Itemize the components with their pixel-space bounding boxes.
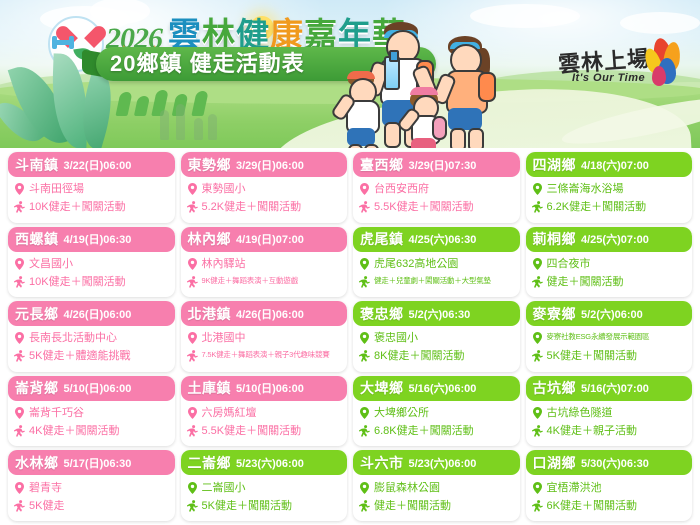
location-pin-icon: [187, 407, 198, 423]
event-card-body: 宜梧滯洪池6K健走＋闖關活動: [526, 475, 693, 521]
event-card-header: 口湖鄉5/30(六)06:30: [526, 450, 693, 475]
walking-person-icon: [359, 350, 370, 366]
flame-torch-icon: [644, 38, 688, 88]
event-datetime: 5/2(六)06:30: [409, 306, 471, 322]
activity-row: 5K健走＋闖關活動: [532, 350, 686, 366]
location-pin-icon: [14, 482, 25, 498]
venue-name: 東勢國小: [202, 183, 246, 196]
event-card-body: 六房媽紅壇5.5K健走＋闖關活動: [181, 401, 348, 447]
township-name: 虎尾鎮: [360, 229, 404, 249]
event-card[interactable]: 土庫鎮5/10(日)06:00六房媽紅壇5.5K健走＋闖關活動: [181, 376, 348, 447]
logo-english-tagline: It's Our Time: [572, 72, 645, 84]
event-card[interactable]: 斗六市5/23(六)06:00膨鼠森林公園健走＋闖關活動: [353, 450, 520, 521]
event-datetime: 5/16(六)06:00: [409, 380, 477, 396]
cloud-decoration: [620, 12, 700, 34]
event-card[interactable]: 東勢鄉3/29(日)06:00東勢國小5.2K健走＋闖關活動: [181, 152, 348, 223]
venue-row: 碧青寺: [14, 482, 168, 498]
event-datetime: 3/29(日)06:00: [236, 157, 304, 173]
location-pin-icon: [187, 183, 198, 199]
walking-person-icon: [532, 201, 543, 217]
activity-row: 5K健走: [14, 500, 168, 516]
venue-name: 碧青寺: [29, 482, 62, 495]
event-card-header: 古坑鄉5/16(六)07:00: [526, 376, 693, 401]
venue-row: 北港國中: [187, 332, 341, 348]
activity-row: 5.5K健走＋闖關活動: [359, 201, 513, 217]
event-card[interactable]: 虎尾鎮4/25(六)06:30虎尾632高地公園健走＋兒童劇＋闖關活動＋大型氣墊: [353, 227, 520, 298]
event-card-header: 水林鄉5/17(日)06:30: [8, 450, 175, 475]
event-card-header: 莿桐鄉4/25(六)07:00: [526, 227, 693, 252]
event-datetime: 4/26(日)06:00: [64, 306, 132, 322]
location-pin-icon: [14, 258, 25, 270]
family-illustration: [330, 14, 545, 148]
event-datetime: 5/30(六)06:30: [581, 455, 649, 471]
venue-row: 宜梧滯洪池: [532, 482, 686, 498]
township-name: 林內鄉: [188, 229, 232, 249]
venue-row: 長南長北活動中心: [14, 332, 168, 348]
girl-figure: [406, 88, 452, 148]
township-name: 口湖鄉: [533, 453, 577, 473]
event-card-header: 林內鄉4/19(日)07:00: [181, 227, 348, 252]
venue-name: 三條崙海水浴場: [547, 183, 624, 196]
event-datetime: 5/17(日)06:30: [64, 455, 132, 471]
location-pin-icon: [187, 258, 198, 270]
venue-name: 膨鼠森林公園: [374, 482, 440, 495]
activity-row: 7.5K健走＋舞蹈表演＋親子3代趣味競賽: [187, 350, 341, 366]
location-pin-icon: [187, 482, 198, 494]
venue-name: 六房媽紅壇: [202, 407, 257, 420]
activity-row: 健走＋兒童劇＋闖關活動＋大型氣墊: [359, 276, 513, 292]
event-card-header: 臺西鄉3/29(日)07:30: [353, 152, 520, 177]
walker-silhouettes: [160, 96, 240, 140]
activity-row: 健走＋闖關活動: [359, 500, 513, 516]
venue-row: 大埤鄉公所: [359, 407, 513, 423]
township-name: 大埤鄉: [360, 378, 404, 398]
location-pin-icon: [14, 258, 25, 274]
walking-person-icon: [359, 425, 370, 437]
event-datetime: 5/16(六)07:00: [581, 380, 649, 396]
activity-row: 健走＋闖關活動: [532, 276, 686, 292]
venue-row: 林內驛站: [187, 258, 341, 274]
event-datetime: 4/19(日)07:00: [236, 231, 304, 247]
venue-name: 崙背千巧谷: [29, 407, 84, 420]
event-card[interactable]: 褒忠鄉5/2(六)06:30褒忠國小8K健走＋闖關活動: [353, 301, 520, 372]
walking-person-icon: [359, 350, 370, 362]
activity-description: 9K健走＋舞蹈表演＋互動遊戲: [202, 276, 298, 286]
event-card-header: 元長鄉4/26(日)06:00: [8, 301, 175, 326]
event-card-body: 膨鼠森林公園健走＋闖關活動: [353, 475, 520, 521]
event-card[interactable]: 古坑鄉5/16(六)07:00古坑綠色隧道4K健走＋親子活動: [526, 376, 693, 447]
location-pin-icon: [359, 482, 370, 494]
venue-name: 四合夜市: [547, 258, 591, 271]
location-pin-icon: [359, 258, 370, 270]
activity-row: 4K健走＋親子活動: [532, 425, 686, 441]
walking-person-icon: [359, 201, 370, 213]
walking-person-icon: [532, 276, 543, 292]
walking-person-icon: [187, 350, 198, 362]
walking-person-icon: [359, 425, 370, 441]
activity-row: 9K健走＋舞蹈表演＋互動遊戲: [187, 276, 341, 292]
location-pin-icon: [532, 482, 543, 494]
walking-person-icon: [532, 350, 543, 362]
event-card-header: 北港鎮4/26(日)06:00: [181, 301, 348, 326]
venue-row: 膨鼠森林公園: [359, 482, 513, 498]
event-card[interactable]: 元長鄉4/26(日)06:00長南長北活動中心5K健走＋體適能挑戰: [8, 301, 175, 372]
event-datetime: 4/19(日)06:30: [64, 231, 132, 247]
event-card[interactable]: 崙背鄉5/10(日)06:00崙背千巧谷4K健走＋闖關活動: [8, 376, 175, 447]
activity-description: 6.8K健走＋闖關活動: [374, 425, 474, 438]
walking-person-icon: [14, 350, 25, 362]
location-pin-icon: [359, 183, 370, 195]
event-datetime: 3/29(日)07:30: [409, 157, 477, 173]
activity-description: 5.5K健走＋闖關活動: [374, 201, 474, 214]
venue-row: 褒忠國小: [359, 332, 513, 348]
event-card-header: 麥寮鄉5/2(六)06:00: [526, 301, 693, 326]
township-name: 斗六市: [360, 453, 404, 473]
activity-description: 7.5K健走＋舞蹈表演＋親子3代趣味競賽: [202, 350, 330, 360]
event-card-body: 褒忠國小8K健走＋闖關活動: [353, 326, 520, 372]
location-pin-icon: [532, 332, 543, 348]
walking-person-icon: [187, 276, 198, 292]
walking-person-icon: [359, 201, 370, 217]
event-card[interactable]: 北港鎮4/26(日)06:00北港國中7.5K健走＋舞蹈表演＋親子3代趣味競賽: [181, 301, 348, 372]
event-card-body: 長南長北活動中心5K健走＋體適能挑戰: [8, 326, 175, 372]
event-card-header: 東勢鄉3/29(日)06:00: [181, 152, 348, 177]
event-card-header: 斗六市5/23(六)06:00: [353, 450, 520, 475]
event-card-body: 二崙國小5K健走＋闖關活動: [181, 475, 348, 521]
location-pin-icon: [359, 482, 370, 498]
event-card[interactable]: 西螺鎮4/19(日)06:30文昌國小10K健走＋闖關活動: [8, 227, 175, 298]
activity-row: 5.2K健走＋闖關活動: [187, 201, 341, 217]
activity-description: 健走＋兒童劇＋闖關活動＋大型氣墊: [374, 276, 491, 286]
event-card[interactable]: 水林鄉5/17(日)06:30碧青寺5K健走: [8, 450, 175, 521]
township-name: 斗南鎮: [15, 155, 59, 175]
venue-name: 斗南田徑場: [29, 183, 84, 196]
event-card-body: 四合夜市健走＋闖關活動: [526, 252, 693, 298]
event-datetime: 4/25(六)06:30: [409, 231, 477, 247]
event-card-body: 大埤鄉公所6.8K健走＋闖關活動: [353, 401, 520, 447]
poster-page: 2026 雲林健康嘉年華 ♪ ♪ 20鄉鎮 健走活動表: [0, 0, 700, 525]
event-datetime: 5/23(六)06:00: [236, 455, 304, 471]
event-datetime: 5/10(日)06:00: [64, 380, 132, 396]
venue-row: 虎尾632高地公園: [359, 258, 513, 274]
event-card-body: 三條崙海水浴場6.2K健走＋闖關活動: [526, 177, 693, 223]
venue-row: 台西安西府: [359, 183, 513, 199]
event-card-body: 林內驛站9K健走＋舞蹈表演＋互動遊戲: [181, 252, 348, 298]
event-card-header: 西螺鎮4/19(日)06:30: [8, 227, 175, 252]
township-name: 古坑鄉: [533, 378, 577, 398]
event-card-body: 東勢國小5.2K健走＋闖關活動: [181, 177, 348, 223]
event-card-body: 虎尾632高地公園健走＋兒童劇＋闖關活動＋大型氣墊: [353, 252, 520, 298]
township-name: 東勢鄉: [188, 155, 232, 175]
walking-person-icon: [532, 201, 543, 213]
walking-person-icon: [14, 350, 25, 366]
location-pin-icon: [359, 332, 370, 344]
township-name: 土庫鎮: [188, 378, 232, 398]
township-name: 北港鎮: [188, 304, 232, 324]
township-name: 臺西鄉: [360, 155, 404, 175]
event-datetime: 3/22(日)06:00: [64, 157, 132, 173]
location-pin-icon: [532, 258, 543, 270]
event-card[interactable]: 斗南鎮3/22(日)06:00斗南田徑場10K健走＋闖關活動: [8, 152, 175, 223]
venue-row: 麥寮社教ESG永續發展示範園區: [532, 332, 686, 348]
venue-row: 崙背千巧谷: [14, 407, 168, 423]
venue-row: 四合夜市: [532, 258, 686, 274]
event-card-body: 崙背千巧谷4K健走＋闖關活動: [8, 401, 175, 447]
event-card[interactable]: 二崙鄉5/23(六)06:00二崙國小5K健走＋闖關活動: [181, 450, 348, 521]
activity-row: 5.5K健走＋闖關活動: [187, 425, 341, 441]
walking-person-icon: [14, 425, 25, 441]
activity-description: 5K健走＋闖關活動: [547, 350, 637, 363]
event-logo: 雲林上場 It's Our Time: [558, 38, 688, 100]
location-pin-icon: [14, 332, 25, 344]
header-banner: 2026 雲林健康嘉年華 ♪ ♪ 20鄉鎮 健走活動表: [0, 0, 700, 148]
township-name: 元長鄉: [15, 304, 59, 324]
township-name: 四湖鄉: [533, 155, 577, 175]
venue-name: 虎尾632高地公園: [374, 258, 458, 271]
location-pin-icon: [14, 332, 25, 348]
event-card-body: 台西安西府5.5K健走＋闖關活動: [353, 177, 520, 223]
location-pin-icon: [14, 407, 25, 423]
location-pin-icon: [359, 407, 370, 423]
event-schedule-grid: 斗南鎮3/22(日)06:00斗南田徑場10K健走＋闖關活動東勢鄉3/29(日)…: [0, 148, 700, 525]
walking-person-icon: [359, 500, 370, 512]
walking-person-icon: [532, 350, 543, 366]
boy-figure: [340, 72, 390, 148]
event-card-body: 麥寮社教ESG永續發展示範園區5K健走＋闖關活動: [526, 326, 693, 372]
activity-description: 5K健走: [29, 500, 64, 513]
location-pin-icon: [359, 183, 370, 199]
location-pin-icon: [14, 482, 25, 494]
event-card[interactable]: 口湖鄉5/30(六)06:30宜梧滯洪池6K健走＋闖關活動: [526, 450, 693, 521]
activity-description: 5K健走＋闖關活動: [202, 500, 292, 513]
walking-person-icon: [359, 276, 370, 292]
walking-person-icon: [187, 500, 198, 516]
event-datetime: 4/26(日)06:00: [236, 306, 304, 322]
event-card-body: 斗南田徑場10K健走＋闖關活動: [8, 177, 175, 223]
event-card-header: 大埤鄉5/16(六)06:00: [353, 376, 520, 401]
venue-name: 北港國中: [202, 332, 246, 345]
walking-person-icon: [187, 201, 198, 217]
walking-person-icon: [359, 500, 370, 516]
activity-description: 5.2K健走＋闖關活動: [202, 201, 302, 214]
location-pin-icon: [187, 332, 198, 348]
venue-name: 長南長北活動中心: [29, 332, 117, 345]
activity-row: 10K健走＋闖關活動: [14, 276, 168, 292]
walking-person-icon: [532, 425, 543, 437]
location-pin-icon: [359, 407, 370, 419]
walking-person-icon: [14, 500, 25, 516]
venue-row: 古坑綠色隧道: [532, 407, 686, 423]
event-card-body: 古坑綠色隧道4K健走＋親子活動: [526, 401, 693, 447]
activity-description: 5K健走＋體適能挑戰: [29, 350, 130, 363]
location-pin-icon: [14, 183, 25, 195]
event-card-header: 虎尾鎮4/25(六)06:30: [353, 227, 520, 252]
township-name: 莿桐鄉: [533, 229, 577, 249]
event-card-header: 二崙鄉5/23(六)06:00: [181, 450, 348, 475]
activity-row: 5K健走＋體適能挑戰: [14, 350, 168, 366]
activity-description: 5.5K健走＋闖關活動: [202, 425, 302, 438]
township-name: 崙背鄉: [15, 378, 59, 398]
activity-row: 6.2K健走＋闖關活動: [532, 201, 686, 217]
walking-person-icon: [187, 201, 198, 213]
activity-description: 健走＋闖關活動: [374, 500, 451, 513]
event-card[interactable]: 麥寮鄉5/2(六)06:00麥寮社教ESG永續發展示範園區5K健走＋闖關活動: [526, 301, 693, 372]
location-pin-icon: [359, 258, 370, 274]
location-pin-icon: [532, 183, 543, 199]
venue-row: 斗南田徑場: [14, 183, 168, 199]
walking-person-icon: [187, 425, 198, 441]
venue-name: 褒忠國小: [374, 332, 418, 345]
event-datetime: 5/23(六)06:00: [409, 455, 477, 471]
venue-row: 二崙國小: [187, 482, 341, 498]
walking-person-icon: [187, 350, 198, 366]
activity-description: 健走＋闖關活動: [547, 276, 624, 289]
walking-person-icon: [532, 425, 543, 441]
township-name: 褒忠鄉: [360, 304, 404, 324]
activity-description: 6K健走＋闖關活動: [547, 500, 637, 513]
activity-row: 8K健走＋闖關活動: [359, 350, 513, 366]
walking-person-icon: [532, 276, 543, 288]
walking-person-icon: [359, 276, 370, 288]
venue-name: 台西安西府: [374, 183, 429, 196]
event-card[interactable]: 臺西鄉3/29(日)07:30台西安西府5.5K健走＋闖關活動: [353, 152, 520, 223]
activity-description: 4K健走＋闖關活動: [29, 425, 119, 438]
venue-row: 三條崙海水浴場: [532, 183, 686, 199]
walking-person-icon: [187, 276, 198, 288]
event-datetime: 4/25(六)07:00: [581, 231, 649, 247]
location-pin-icon: [532, 407, 543, 419]
activity-description: 8K健走＋闖關活動: [374, 350, 464, 363]
event-card[interactable]: 四湖鄉4/18(六)07:00三條崙海水浴場6.2K健走＋闖關活動: [526, 152, 693, 223]
event-card-header: 斗南鎮3/22(日)06:00: [8, 152, 175, 177]
event-datetime: 5/10(日)06:00: [236, 380, 304, 396]
activity-row: 6.8K健走＋闖關活動: [359, 425, 513, 441]
event-card-header: 四湖鄉4/18(六)07:00: [526, 152, 693, 177]
event-datetime: 5/2(六)06:00: [581, 306, 643, 322]
township-name: 水林鄉: [15, 453, 59, 473]
walking-person-icon: [187, 500, 198, 512]
walking-person-icon: [14, 425, 25, 437]
venue-name: 林內驛站: [202, 258, 246, 271]
location-pin-icon: [187, 482, 198, 498]
event-card[interactable]: 莿桐鄉4/25(六)07:00四合夜市健走＋闖關活動: [526, 227, 693, 298]
walking-person-icon: [14, 500, 25, 512]
event-card[interactable]: 大埤鄉5/16(六)06:00大埤鄉公所6.8K健走＋闖關活動: [353, 376, 520, 447]
walking-person-icon: [532, 500, 543, 512]
activity-row: 5K健走＋闖關活動: [187, 500, 341, 516]
venue-name: 文昌國小: [29, 258, 73, 271]
location-pin-icon: [532, 258, 543, 274]
location-pin-icon: [532, 183, 543, 195]
activity-description: 6.2K健走＋闖關活動: [547, 201, 647, 214]
venue-name: 宜梧滯洪池: [547, 482, 602, 495]
activity-row: 4K健走＋闖關活動: [14, 425, 168, 441]
venue-name: 二崙國小: [202, 482, 246, 495]
location-pin-icon: [359, 332, 370, 348]
location-pin-icon: [14, 407, 25, 419]
venue-name: 大埤鄉公所: [374, 407, 429, 420]
activity-row: 10K健走＋闖關活動: [14, 201, 168, 217]
walking-person-icon: [187, 425, 198, 437]
location-pin-icon: [187, 258, 198, 274]
activity-row: 6K健走＋闖關活動: [532, 500, 686, 516]
venue-row: 六房媽紅壇: [187, 407, 341, 423]
township-name: 二崙鄉: [188, 453, 232, 473]
event-card-body: 文昌國小10K健走＋闖關活動: [8, 252, 175, 298]
location-pin-icon: [532, 407, 543, 423]
activity-description: 10K健走＋闖關活動: [29, 276, 126, 289]
walking-person-icon: [532, 500, 543, 516]
walking-person-icon: [14, 276, 25, 288]
location-pin-icon: [532, 332, 543, 344]
activity-description: 4K健走＋親子活動: [547, 425, 637, 438]
venue-name: 麥寮社教ESG永續發展示範園區: [547, 332, 650, 342]
event-card-header: 土庫鎮5/10(日)06:00: [181, 376, 348, 401]
event-card-body: 碧青寺5K健走: [8, 475, 175, 521]
walking-person-icon: [14, 276, 25, 292]
event-datetime: 4/18(六)07:00: [581, 157, 649, 173]
event-card[interactable]: 林內鄉4/19(日)07:00林內驛站9K健走＋舞蹈表演＋互動遊戲: [181, 227, 348, 298]
event-card-body: 北港國中7.5K健走＋舞蹈表演＋親子3代趣味競賽: [181, 326, 348, 372]
location-pin-icon: [187, 332, 198, 344]
event-card-header: 褒忠鄉5/2(六)06:30: [353, 301, 520, 326]
venue-row: 文昌國小: [14, 258, 168, 274]
venue-name: 古坑綠色隧道: [547, 407, 613, 420]
venue-row: 東勢國小: [187, 183, 341, 199]
location-pin-icon: [187, 407, 198, 419]
walking-person-icon: [14, 201, 25, 213]
event-card-header: 崙背鄉5/10(日)06:00: [8, 376, 175, 401]
location-pin-icon: [187, 183, 198, 195]
activity-description: 10K健走＋闖關活動: [29, 201, 126, 214]
township-name: 西螺鎮: [15, 229, 59, 249]
township-name: 麥寮鄉: [533, 304, 577, 324]
location-pin-icon: [532, 482, 543, 498]
walking-person-icon: [14, 201, 25, 217]
location-pin-icon: [14, 183, 25, 199]
